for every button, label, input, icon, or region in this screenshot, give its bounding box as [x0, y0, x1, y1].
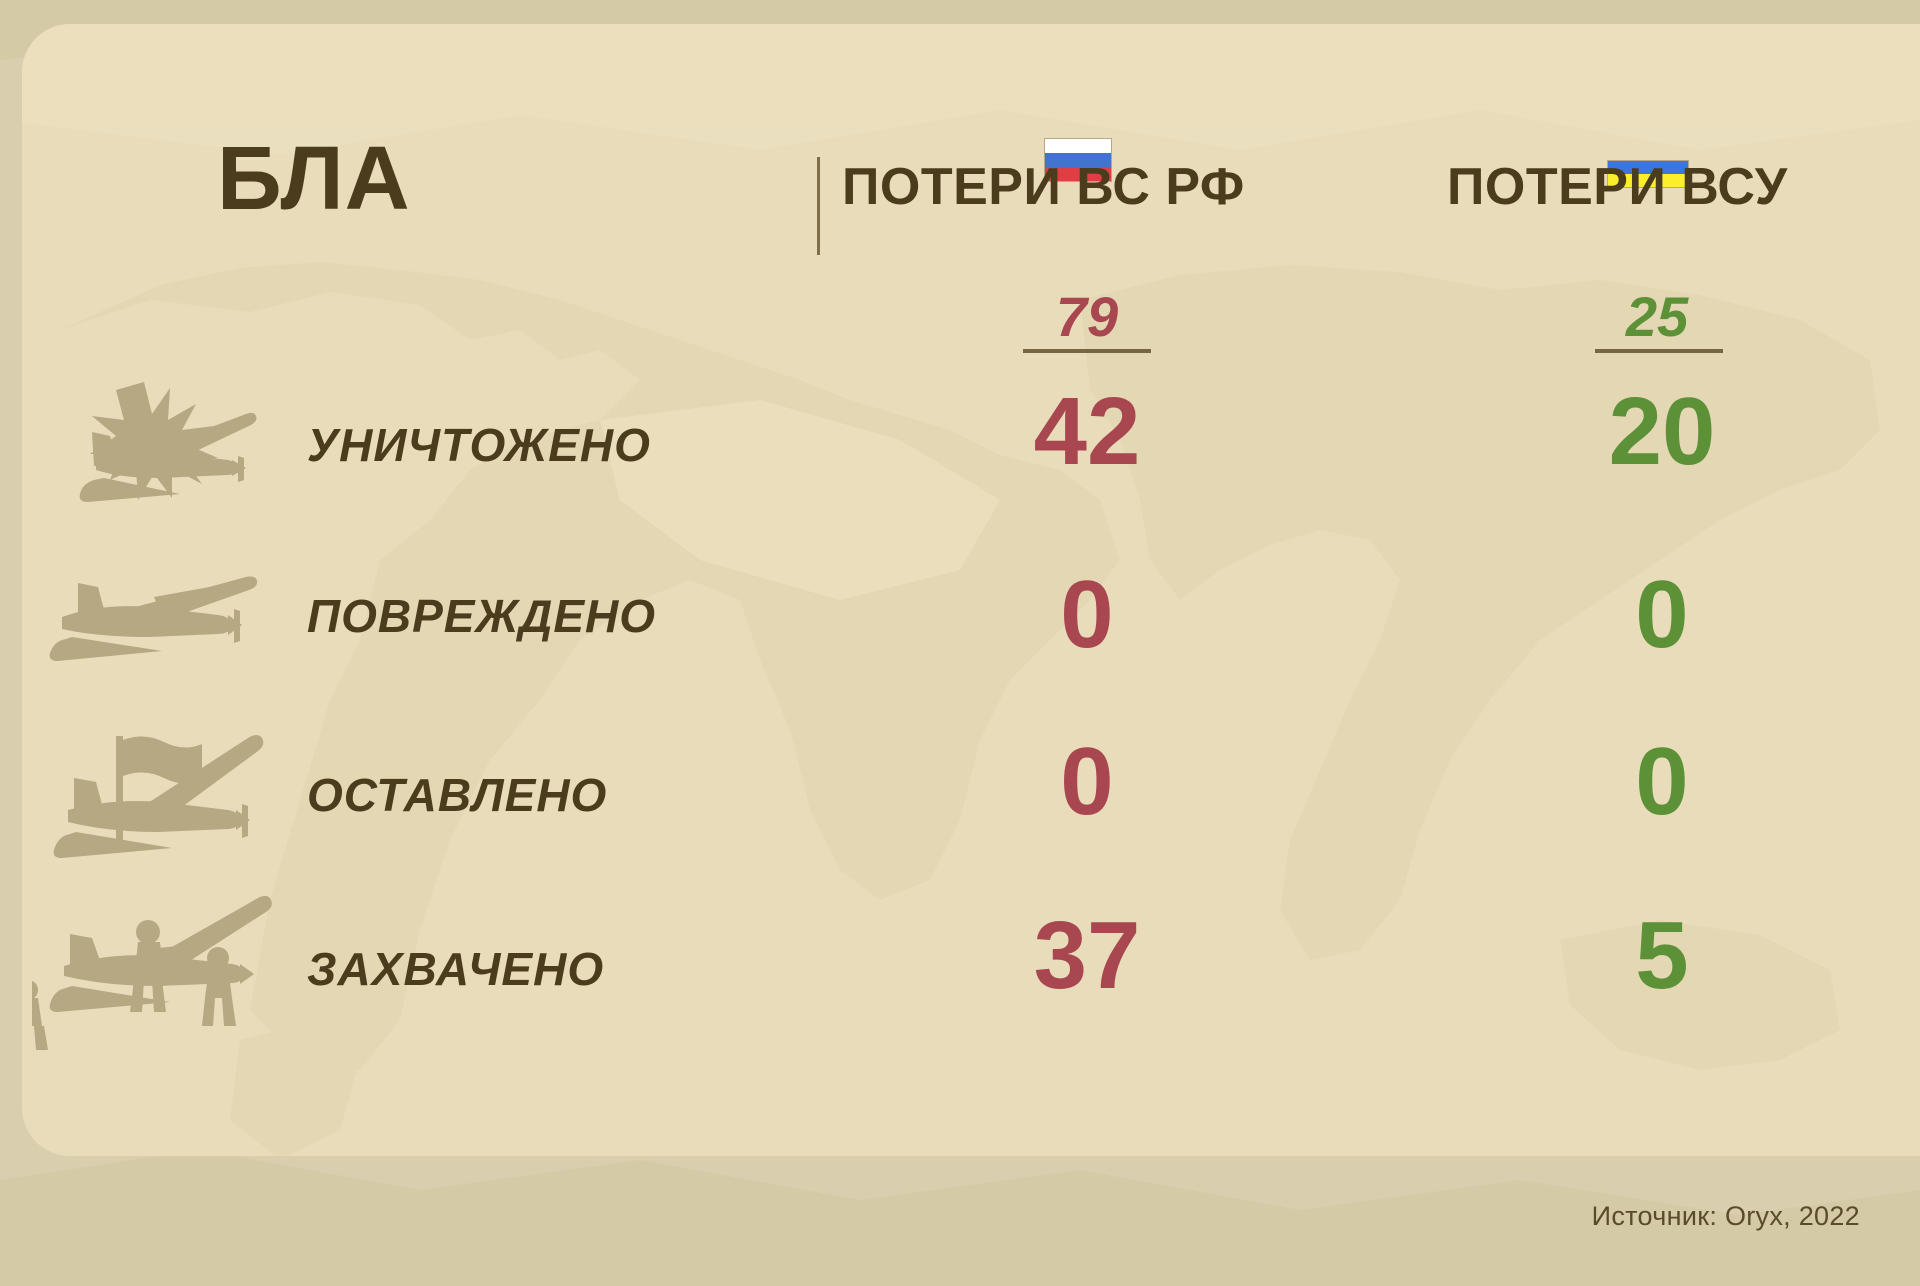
row-value-russia: 37: [967, 908, 1207, 1004]
table-row: ПОВРЕЖДЕНО 0 0: [22, 551, 1920, 719]
total-ukraine-rule: [1595, 349, 1723, 353]
total-russia: 79: [977, 289, 1197, 345]
infographic-card: БЛА ПОТЕРИ ВС РФ ПОТЕРИ ВСУ 79 25: [22, 24, 1920, 1156]
destroyed-drone-icon: [32, 374, 292, 534]
table-row: УНИЧТОЖЕНО 42 20: [22, 374, 1920, 542]
row-value-russia: 0: [967, 734, 1207, 830]
total-russia-rule: [1023, 349, 1151, 353]
page-title: БЛА: [217, 134, 411, 224]
table-row: ЗАХВАЧЕНО 37 5: [22, 894, 1920, 1062]
source-note: Источник: Oryx, 2022: [1592, 1201, 1860, 1232]
row-label: УНИЧТОЖЕНО: [307, 422, 651, 468]
row-value-russia: 0: [967, 567, 1207, 663]
total-ukraine: 25: [1547, 289, 1767, 345]
header: БЛА ПОТЕРИ ВС РФ ПОТЕРИ ВСУ: [22, 24, 1920, 254]
row-value-ukraine: 5: [1542, 908, 1782, 1004]
column-header-ukraine: ПОТЕРИ ВСУ: [1447, 157, 1788, 217]
row-label: ЗАХВАЧЕНО: [307, 946, 604, 992]
row-label: ПОВРЕЖДЕНО: [307, 593, 656, 639]
row-label: ОСТАВЛЕНО: [307, 772, 607, 818]
abandoned-drone-flag-icon: [32, 724, 292, 884]
row-value-ukraine: 20: [1542, 384, 1782, 480]
row-value-ukraine: 0: [1542, 567, 1782, 663]
table-row: ОСТАВЛЕНО 0 0: [22, 724, 1920, 892]
column-header-russia: ПОТЕРИ ВС РФ: [842, 157, 1245, 217]
damaged-drone-icon: [32, 551, 292, 711]
captured-drone-soldiers-icon: [32, 894, 292, 1054]
row-value-russia: 42: [967, 384, 1207, 480]
header-divider: [817, 157, 820, 255]
row-value-ukraine: 0: [1542, 734, 1782, 830]
